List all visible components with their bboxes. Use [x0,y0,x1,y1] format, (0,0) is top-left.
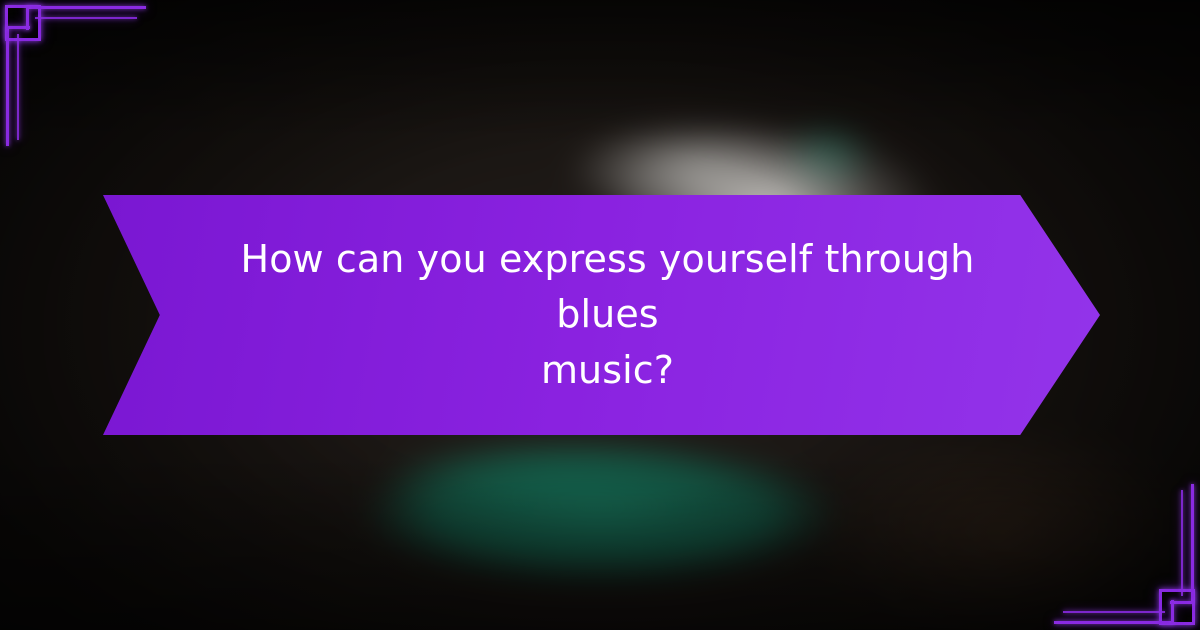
corner-line-vertical-outer [1191,484,1194,602]
page-title: How can you express yourself through blu… [228,232,988,397]
corner-line-join-vertical [1171,600,1174,624]
bottom-right-neon-corner [1040,470,1200,630]
top-left-neon-corner [0,0,160,160]
screenshot-canvas: How can you express yourself through blu… [0,0,1200,630]
corner-square-icon [5,5,41,41]
corner-line-horizontal-outer [28,6,146,9]
corner-line-horizontal-inner [1063,611,1165,613]
corner-line-vertical-inner [17,34,19,140]
corner-line-join-vertical [26,6,29,30]
corner-line-horizontal-outer [1054,621,1172,624]
chevron-title-banner: How can you express yourself through blu… [103,195,1100,435]
corner-line-horizontal-inner [35,17,137,19]
corner-square-icon [1159,589,1195,625]
corner-line-vertical-outer [6,28,9,146]
corner-line-vertical-inner [1181,490,1183,596]
